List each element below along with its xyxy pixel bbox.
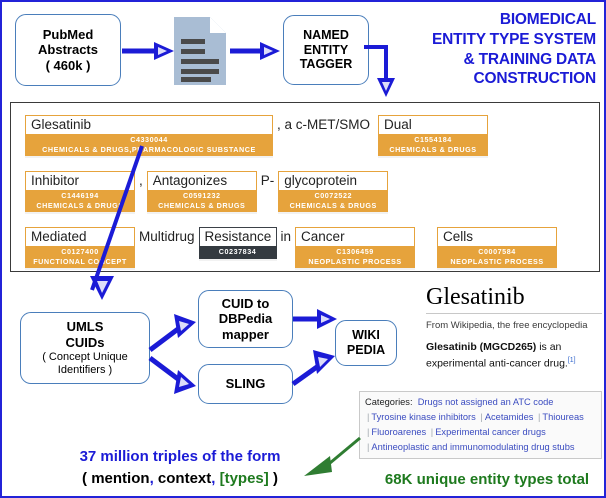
chip-cuid: C1554184 xyxy=(382,135,484,145)
categories-line-4: |Antineoplastic and immunomodulating dru… xyxy=(365,440,596,455)
node-pubmed-abstracts[interactable]: PubMed Abstracts ( 460k ) xyxy=(15,14,121,86)
arrow-sling-to-wikipedia xyxy=(291,346,339,388)
chip-meta: C0591232 CHEMICALS & DRUGS xyxy=(147,190,257,212)
node-sling[interactable]: SLING xyxy=(198,364,293,404)
entity-chip-glycoprotein[interactable]: glycoprotein C0072522 CHEMICALS & DRUGS xyxy=(278,171,388,214)
entity-chip-cells[interactable]: Cells C0007584 NEOPLASTIC PROCESS xyxy=(437,227,557,270)
node-wikipedia[interactable]: WIKI PEDIA xyxy=(335,320,397,366)
chip-cuid: C0237834 xyxy=(203,247,273,257)
triples-caption: 37 million triples of the form ( mention… xyxy=(20,446,340,490)
arrow-umls-to-sling xyxy=(148,354,202,396)
chip-types: CHEMICALS & DRUGS xyxy=(282,201,384,211)
chip-mention: Cancer xyxy=(295,227,415,246)
triples-close-paren: ) xyxy=(269,470,278,487)
triples-comma-2: , xyxy=(211,470,219,487)
diagram-canvas: BIOMEDICAL ENTITY TYPE SYSTEM & TRAINING… xyxy=(0,0,606,498)
pubmed-line-3: ( 460k ) xyxy=(46,58,91,73)
categories-line-3: |Fluoroarenes |Experimental cancer drugs xyxy=(365,425,596,440)
categories-line-2: |Tyrosine kinase inhibitors |Acetamides … xyxy=(365,410,596,425)
triples-types: [types] xyxy=(220,470,269,487)
category-link[interactable]: Thioureas xyxy=(542,412,583,422)
entity-chip-dual[interactable]: Dual C1554184 CHEMICALS & DRUGS xyxy=(378,115,488,158)
triples-context: context xyxy=(158,470,211,487)
chip-types: CHEMICALS & DRUGS xyxy=(151,201,253,211)
pubmed-line-2: Abstracts xyxy=(38,42,98,57)
category-link[interactable]: Tyrosine kinase inhibitors xyxy=(371,412,475,422)
chip-meta: C1306459 NEOPLASTIC PROCESS xyxy=(295,246,415,268)
chip-meta: C0237834 xyxy=(199,246,277,259)
category-link[interactable]: Acetamides xyxy=(485,412,534,422)
entity-chip-antagonizes[interactable]: Antagonizes C0591232 CHEMICALS & DRUGS xyxy=(147,171,257,214)
category-link[interactable]: Fluoroarenes xyxy=(371,427,426,437)
arrow-into-umls xyxy=(88,274,128,314)
title-line-1: BIOMEDICAL xyxy=(348,10,596,30)
wikipedia-line-1: WIKI xyxy=(352,328,380,343)
arrow-pubmed-to-document xyxy=(120,39,176,63)
chip-mention: Resistance xyxy=(199,227,277,246)
wiki-categories-box: Categories: Drugs not assigned an ATC co… xyxy=(359,391,602,459)
chip-cuid: C0007584 xyxy=(441,247,553,257)
entity-chip-resistance[interactable]: Resistance C0237834 xyxy=(199,227,277,261)
chip-types: NEOPLASTIC PROCESS xyxy=(299,257,411,267)
triples-comma-1: , xyxy=(150,470,158,487)
chip-types: CHEMICALS & DRUGS xyxy=(382,145,484,155)
entity-chip-cancer[interactable]: Cancer C1306459 NEOPLASTIC PROCESS xyxy=(295,227,415,270)
categories-label: Categories: xyxy=(365,397,413,407)
plain-text-token: in xyxy=(277,227,296,244)
categories-line-1: Categories: Drugs not assigned an ATC co… xyxy=(365,395,596,410)
wikipedia-article-card: Glesatinib From Wikipedia, the free ency… xyxy=(426,284,602,371)
umls-line-1: UMLS xyxy=(67,319,104,334)
tagger-line-3: TAGGER xyxy=(300,57,353,72)
chip-mention: glycoprotein xyxy=(278,171,388,190)
arrow-dbpedia-to-wikipedia xyxy=(291,307,339,331)
chip-mention: Antagonizes xyxy=(147,171,257,190)
node-umls-cuids[interactable]: UMLS CUIDs ( Concept Unique Identifiers … xyxy=(20,312,150,384)
wiki-article-title: Glesatinib xyxy=(426,284,602,314)
umls-sub-1: ( Concept Unique xyxy=(42,351,128,364)
wikipedia-line-2: PEDIA xyxy=(347,343,385,358)
node-cuid-to-dbpedia-mapper[interactable]: CUID to DBPedia mapper xyxy=(198,290,293,348)
umls-sub-2: Identifiers ) xyxy=(58,364,112,377)
tagger-line-1: NAMED xyxy=(303,28,349,43)
category-link[interactable]: Drugs not assigned an ATC code xyxy=(418,397,554,407)
triples-line-1: 37 million triples of the form xyxy=(20,446,340,468)
wiki-article-body: Glesatinib (MGCD265) is an experimental … xyxy=(426,340,602,371)
sling-label: SLING xyxy=(226,376,266,391)
pubmed-line-1: PubMed xyxy=(43,27,94,42)
chip-meta: C0072522 CHEMICALS & DRUGS xyxy=(278,190,388,212)
chip-mention: Cells xyxy=(437,227,557,246)
chip-cuid: C1306459 xyxy=(299,247,411,257)
tagger-line-2: ENTITY xyxy=(304,43,348,58)
chip-mention: Glesatinib xyxy=(25,115,273,134)
plain-text-token: P- xyxy=(257,171,279,188)
category-link[interactable]: Antineoplastic and immunomodulating drug… xyxy=(371,442,574,452)
document-icon xyxy=(172,15,228,87)
arrow-umls-to-dbpedia xyxy=(148,314,202,356)
plain-text-token: , a c-MET/SMO xyxy=(273,115,374,132)
chip-cuid: C0072522 xyxy=(282,191,384,201)
wiki-article-subtitle: From Wikipedia, the free encyclopedia xyxy=(426,320,602,331)
category-link[interactable]: Experimental cancer drugs xyxy=(435,427,546,437)
chip-meta: C0007584 NEOPLASTIC PROCESS xyxy=(437,246,557,268)
chip-types: NEOPLASTIC PROCESS xyxy=(441,257,553,267)
unique-entity-types-caption: 68K unique entity types total xyxy=(368,471,606,488)
node-named-entity-tagger[interactable]: NAMED ENTITY TAGGER xyxy=(283,15,369,85)
chip-cuid: C0591232 xyxy=(151,191,253,201)
arrow-tagger-to-panel xyxy=(362,42,402,98)
wiki-body-bold: Glesatinib (MGCD265) xyxy=(426,341,536,353)
arrow-document-to-tagger xyxy=(228,39,282,63)
triples-open-paren: ( xyxy=(82,470,91,487)
umls-line-2: CUIDs xyxy=(65,335,104,350)
dbpedia-line-3: mapper xyxy=(222,327,269,342)
chip-meta: C1554184 CHEMICALS & DRUGS xyxy=(378,134,488,156)
chip-mention: Dual xyxy=(378,115,488,134)
triples-mention: mention xyxy=(91,470,149,487)
dbpedia-line-1: CUID to xyxy=(222,296,270,311)
dbpedia-line-2: DBPedia xyxy=(219,311,272,326)
triples-line-2: ( mention, context, [types] ) xyxy=(20,468,340,490)
wiki-reference-link[interactable]: [1] xyxy=(568,357,576,364)
